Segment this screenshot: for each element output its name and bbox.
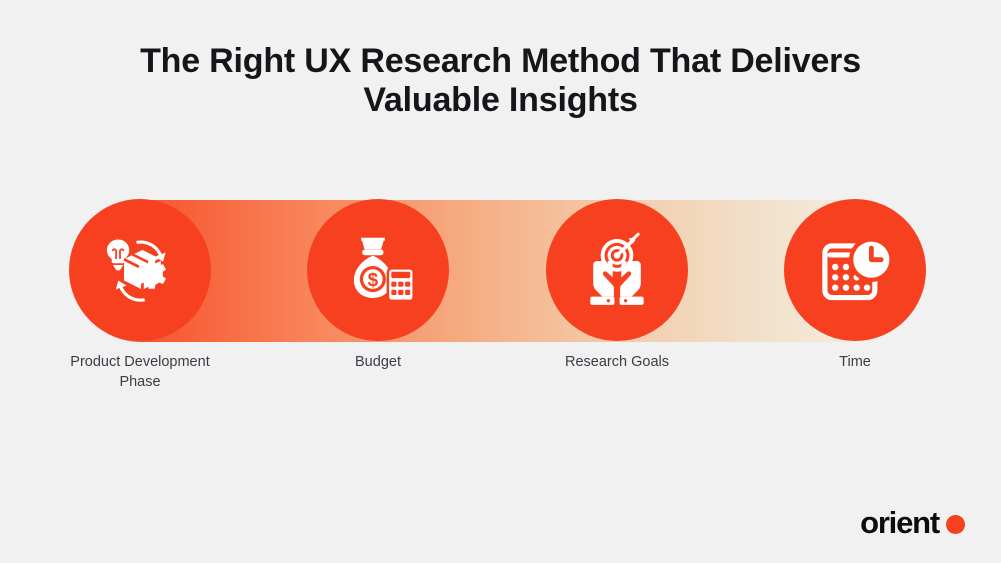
- step-label: Time: [755, 352, 955, 372]
- step-time[interactable]: Time: [755, 199, 955, 372]
- logo-dot-icon: [946, 515, 965, 534]
- step-label: Budget: [278, 352, 478, 372]
- steps-row: Product Development Phase $: [0, 199, 1001, 399]
- step-icon-circle: [784, 199, 926, 341]
- step-budget[interactable]: $ Budget: [278, 199, 478, 372]
- step-icon-circle: [69, 199, 211, 341]
- infographic-canvas: The Right UX Research Method That Delive…: [0, 0, 1001, 563]
- step-label: Product Development Phase: [40, 352, 240, 392]
- step-label: Research Goals: [517, 352, 717, 372]
- hands-holding-target-icon: [574, 227, 660, 313]
- product-development-cycle-icon: [97, 227, 183, 313]
- calendar-clock-icon: [812, 227, 898, 313]
- page-title-line-1: The Right UX Research Method That Delive…: [0, 42, 1001, 81]
- page-title: The Right UX Research Method That Delive…: [0, 42, 1001, 120]
- money-bag-calculator-icon: $: [335, 227, 421, 313]
- logo-wordmark: orient: [860, 505, 939, 541]
- orient-logo: orient: [860, 505, 965, 541]
- step-icon-circle: [546, 199, 688, 341]
- step-icon-circle: $: [307, 199, 449, 341]
- svg-text:$: $: [368, 270, 379, 291]
- step-research-goals[interactable]: Research Goals: [517, 199, 717, 372]
- step-product-development-phase[interactable]: Product Development Phase: [40, 199, 240, 392]
- page-title-line-2: Valuable Insights: [0, 81, 1001, 120]
